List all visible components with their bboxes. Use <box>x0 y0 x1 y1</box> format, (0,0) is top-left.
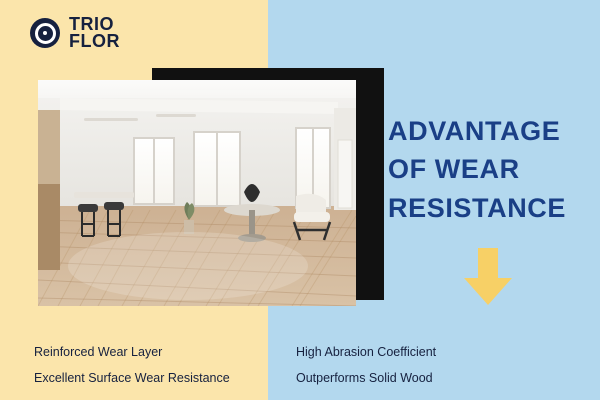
list-item: Outperforms Solid Wood <box>296 366 436 392</box>
interior-photo <box>38 80 356 306</box>
brand-name-line2: FLOR <box>69 33 120 50</box>
brand-logo: TRIO FLOR <box>30 16 120 50</box>
brand-name: TRIO FLOR <box>69 16 120 50</box>
target-circle-icon <box>30 18 60 48</box>
list-item: Excellent Surface Wear Resistance <box>34 366 230 392</box>
headline-line-3: RESISTANCE <box>388 189 588 227</box>
logo-dot <box>43 31 47 35</box>
list-item: Reinforced Wear Layer <box>34 340 230 366</box>
poster-canvas: TRIO FLOR <box>0 0 600 400</box>
features-list-left: Reinforced Wear Layer Excellent Surface … <box>34 340 230 391</box>
interior-photo-illustration <box>38 80 356 306</box>
headline-line-1: ADVANTAGE <box>388 112 588 150</box>
logo-ring <box>35 23 56 44</box>
page-title: ADVANTAGE OF WEAR RESISTANCE <box>388 112 588 227</box>
features-list-right: High Abrasion Coefficient Outperforms So… <box>296 340 436 391</box>
arrow-down-icon <box>460 248 516 306</box>
headline-line-2: OF WEAR <box>388 150 588 188</box>
list-item: High Abrasion Coefficient <box>296 340 436 366</box>
